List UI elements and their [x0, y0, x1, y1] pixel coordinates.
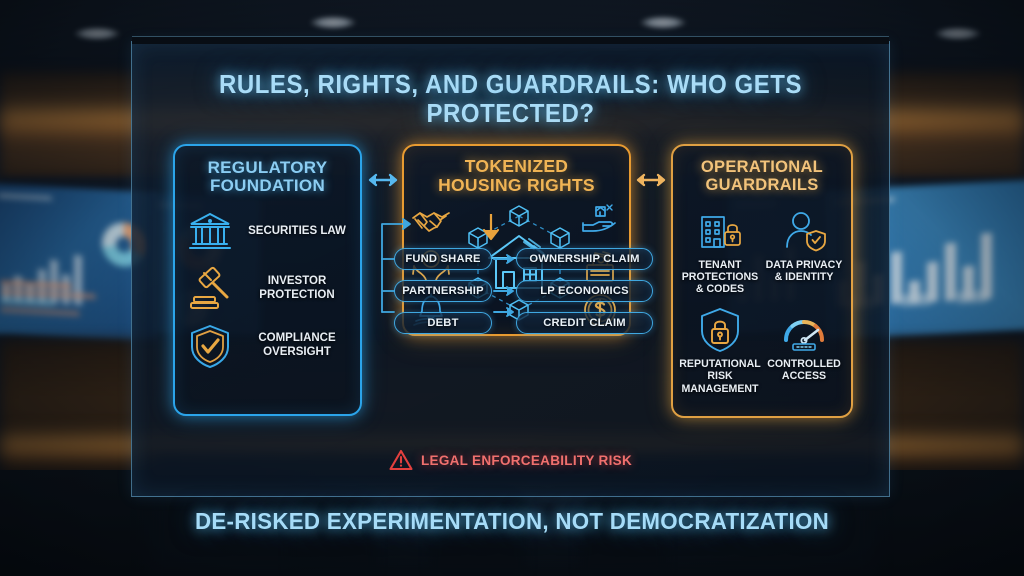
list-item-label: CONTROLLED ACCESS: [762, 358, 846, 383]
list-item-label: DATA PRIVACY & IDENTITY: [762, 259, 846, 284]
list-item[interactable]: COMPLIANCE OVERSIGHT: [175, 321, 360, 371]
bank-icon: [185, 207, 235, 257]
panel-center-heading: TOKENIZED HOUSING RIGHTS: [404, 146, 629, 195]
list-item[interactable]: DATA PRIVACY & IDENTITY: [762, 205, 846, 296]
page-title: RULES, RIGHTS, AND GUARDRAILS: WHO GETS …: [155, 71, 867, 129]
list-item[interactable]: REPUTATIONAL RISK MANAGEMENT: [678, 304, 762, 395]
panel-right-heading: OPERATIONAL GUARDRAILS: [673, 146, 851, 195]
list-item[interactable]: CONTROLLED ACCESS: [762, 304, 846, 395]
flow-source-box[interactable]: PARTNERSHIP: [394, 280, 492, 302]
gavel-icon: [185, 264, 235, 314]
list-item[interactable]: TENANT PROTECTIONS & CODES: [678, 205, 762, 296]
flow-source-box[interactable]: DEBT: [394, 312, 492, 334]
flow-target-box[interactable]: CREDIT CLAIM: [516, 312, 653, 334]
guardrails-grid: TENANT PROTECTIONS & CODES DATA PRIVACY …: [673, 195, 851, 395]
connector-center-right: [632, 170, 670, 190]
list-item-label: COMPLIANCE OVERSIGHT: [244, 332, 350, 359]
claim-mapping-flow: FUND SHARE OWNERSHIP CLAIM PARTNERSHIP L…: [378, 248, 653, 348]
warning-label: LEGAL ENFORCEABILITY RISK: [421, 453, 632, 468]
list-item-label: SECURITIES LAW: [244, 225, 350, 238]
flow-target-box[interactable]: LP ECONOMICS: [516, 280, 653, 302]
flow-target-box[interactable]: OWNERSHIP CLAIM: [516, 248, 653, 270]
list-item-label: TENANT PROTECTIONS & CODES: [678, 259, 762, 296]
panel-operational-guardrails[interactable]: OPERATIONAL GUARDRAILS: [671, 144, 853, 418]
panel-left-heading: REGULATORY FOUNDATION: [175, 146, 360, 196]
list-item-label: INVESTOR PROTECTION: [244, 275, 350, 302]
list-item[interactable]: SECURITIES LAW: [175, 207, 360, 257]
warning-triangle-icon: [389, 449, 413, 471]
panel-regulatory-foundation[interactable]: REGULATORY FOUNDATION SECURITIES LAW: [173, 144, 362, 416]
list-item-label: REPUTATIONAL RISK MANAGEMENT: [678, 358, 762, 395]
infographic-panel: RULES, RIGHTS, AND GUARDRAILS: WHO GETS …: [131, 41, 890, 497]
shield-lock-icon: [694, 304, 746, 356]
user-shield-icon: [778, 205, 830, 257]
list-item[interactable]: INVESTOR PROTECTION: [175, 264, 360, 314]
building-lock-icon: [694, 205, 746, 257]
flow-source-box[interactable]: FUND SHARE: [394, 248, 492, 270]
shield-check-icon: [185, 321, 235, 371]
legal-risk-warning: LEGAL ENFORCEABILITY RISK: [132, 449, 889, 471]
connector-left-center: [364, 170, 402, 190]
footer-tagline: DE-RISKED EXPERIMENTATION, NOT DEMOCRATI…: [26, 508, 999, 535]
gauge-icon: [778, 304, 830, 356]
